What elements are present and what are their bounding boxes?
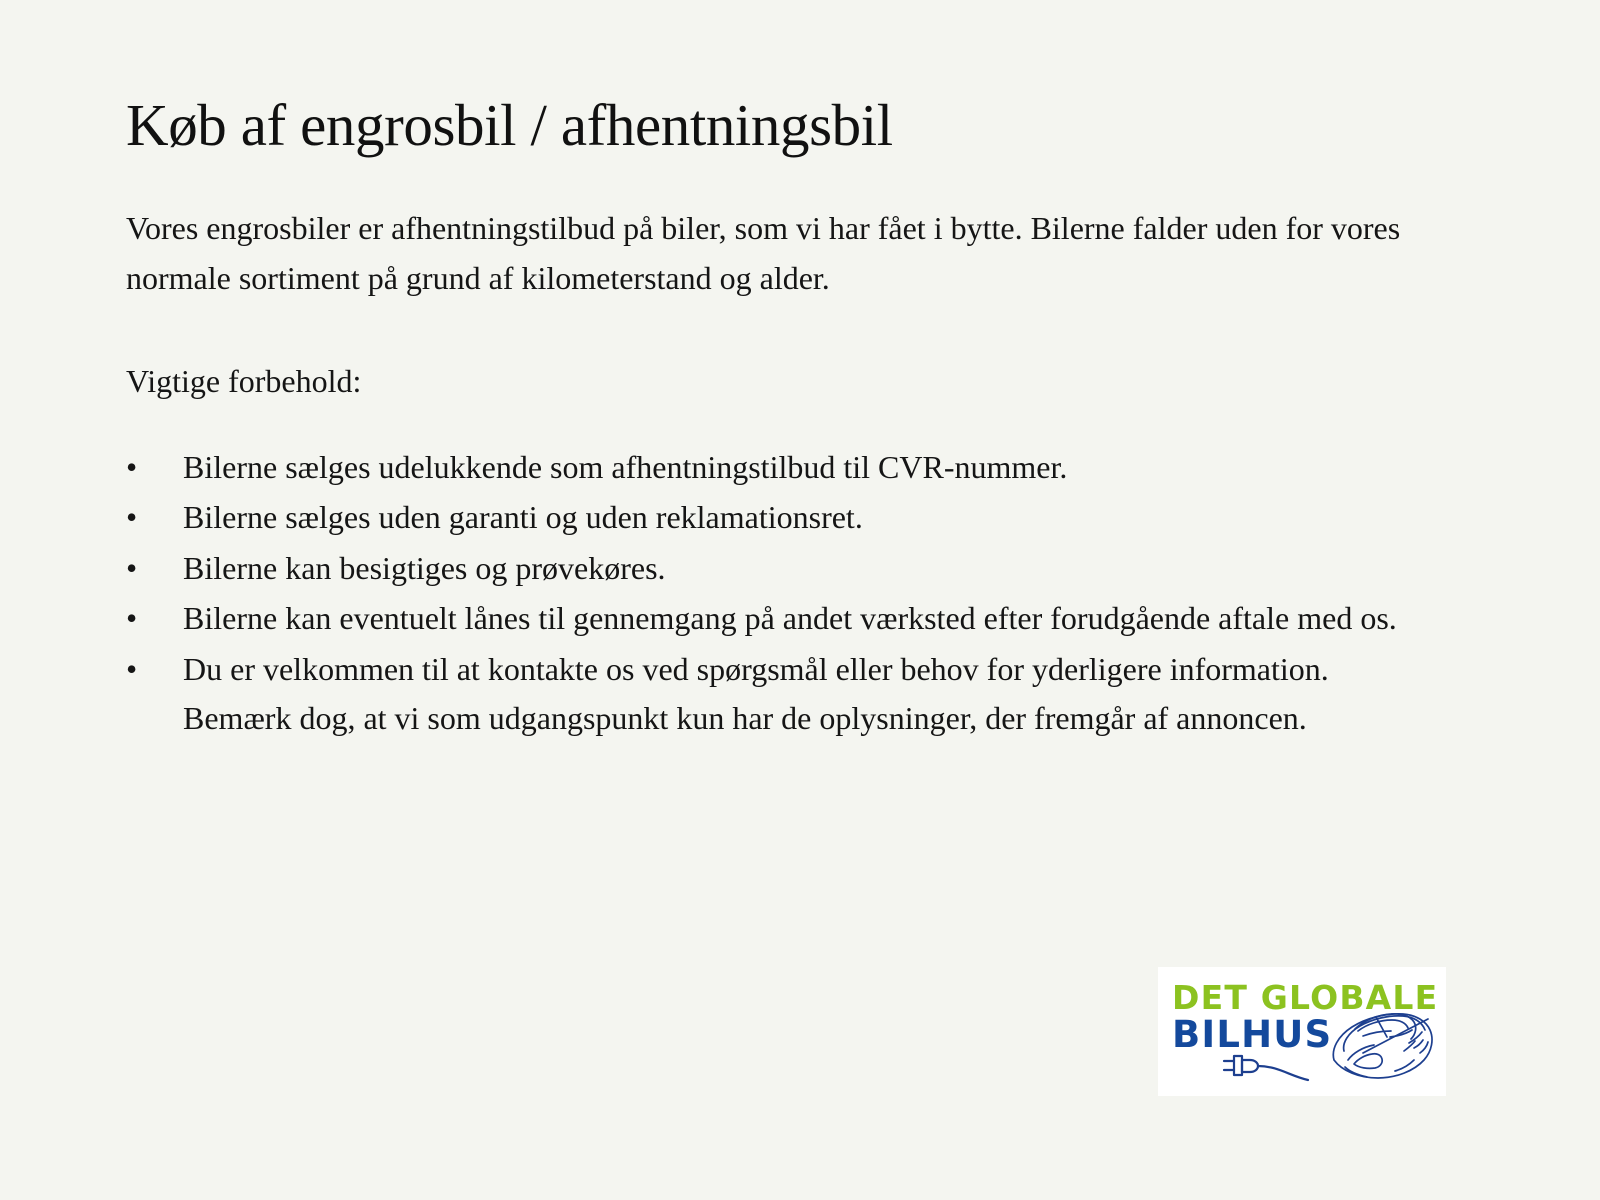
logo-artwork: DET GLOBALE BILHUS bbox=[1158, 967, 1446, 1096]
list-item: • Bilerne kan eventuelt lånes til gennem… bbox=[126, 594, 1456, 643]
bullet-marker-icon: • bbox=[126, 645, 148, 694]
list-item-text: Bilerne kan besigtiges og prøvekøres. bbox=[183, 550, 666, 586]
electric-car-icon bbox=[1333, 1014, 1432, 1078]
list-item-secondary-text: Bemærk dog, at vi som udgangspunkt kun h… bbox=[183, 694, 1456, 743]
list-item-text: Bilerne sælges uden garanti og uden rekl… bbox=[183, 499, 863, 535]
power-plug-icon bbox=[1224, 1056, 1308, 1080]
list-item: • Bilerne sælges uden garanti og uden re… bbox=[126, 493, 1456, 542]
list-item: • Du er velkommen til at kontakte os ved… bbox=[126, 645, 1456, 744]
bullet-marker-icon: • bbox=[126, 443, 148, 492]
logo-text-bilhus: BILHUS bbox=[1172, 1013, 1332, 1056]
bullet-marker-icon: • bbox=[126, 544, 148, 593]
slide: Køb af engrosbil / afhentningsbil Vores … bbox=[0, 0, 1600, 1200]
list-item-text: Du er velkommen til at kontakte os ved s… bbox=[183, 651, 1329, 687]
bullet-marker-icon: • bbox=[126, 493, 148, 542]
list-item-text: Bilerne kan eventuelt lånes til gennemga… bbox=[183, 600, 1397, 636]
page-title: Køb af engrosbil / afhentningsbil bbox=[126, 92, 1456, 158]
intro-paragraph: Vores engrosbiler er afhentningstilbud p… bbox=[126, 204, 1446, 304]
bullet-marker-icon: • bbox=[126, 594, 148, 643]
slide-content: Køb af engrosbil / afhentningsbil Vores … bbox=[126, 92, 1456, 745]
forbehold-bullet-list: • Bilerne sælges udelukkende som afhentn… bbox=[126, 443, 1456, 744]
list-item: • Bilerne sælges udelukkende som afhentn… bbox=[126, 443, 1456, 492]
logo-text-det-globale: DET GLOBALE bbox=[1172, 978, 1438, 1017]
section-label-vigtige-forbehold: Vigtige forbehold: bbox=[126, 357, 1456, 405]
list-item: • Bilerne kan besigtiges og prøvekøres. bbox=[126, 544, 1456, 593]
list-item-text: Bilerne sælges udelukkende som afhentnin… bbox=[183, 449, 1067, 485]
company-logo: DET GLOBALE BILHUS bbox=[1158, 967, 1446, 1096]
